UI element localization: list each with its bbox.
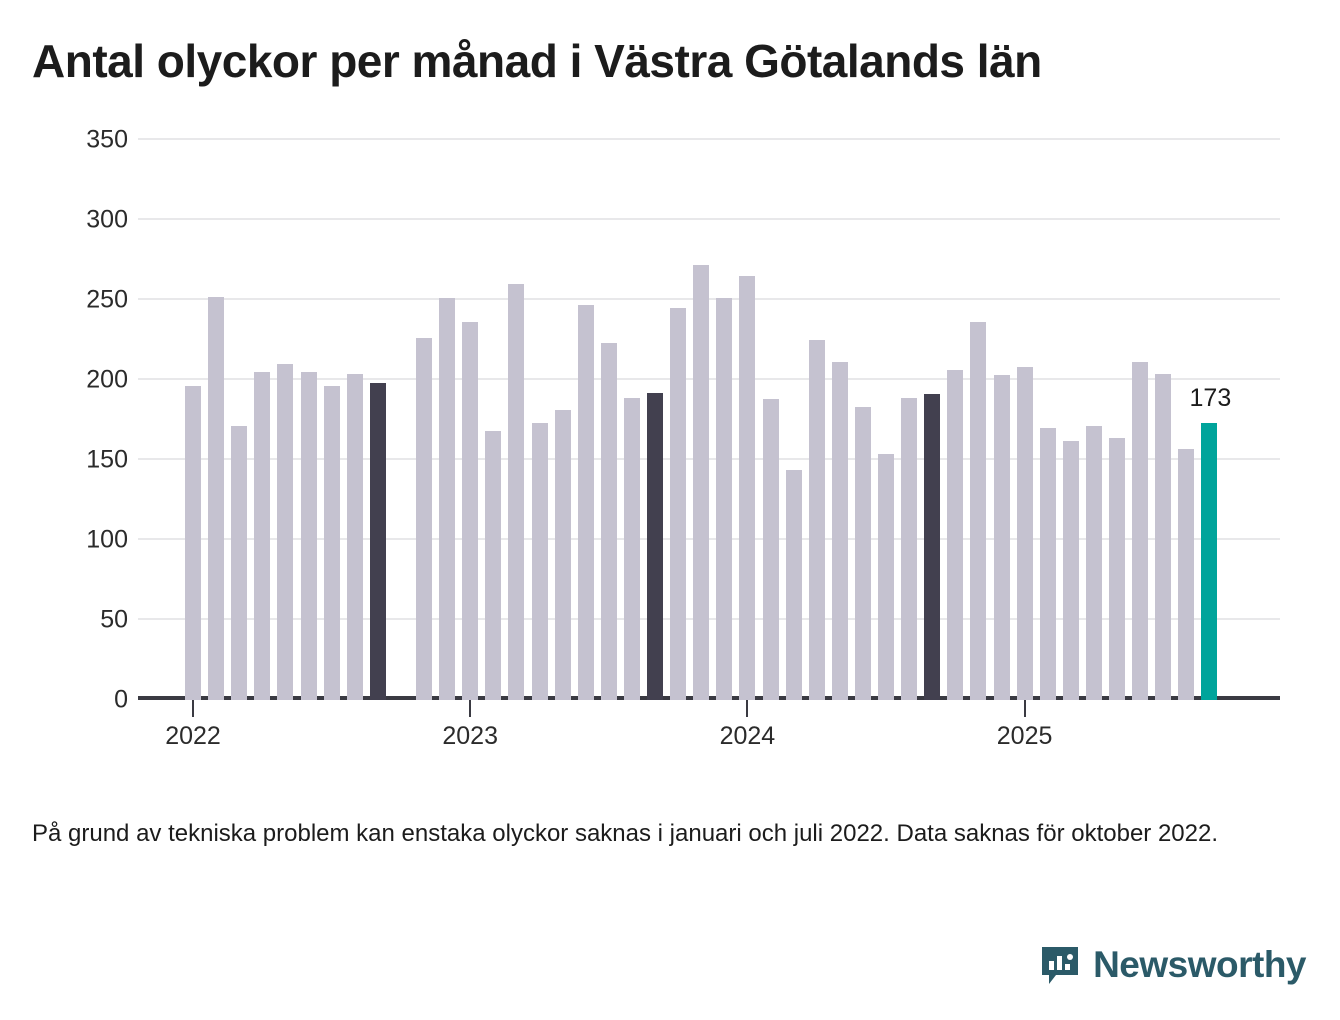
bar[interactable] xyxy=(416,338,432,700)
x-axis-tick-label: 2024 xyxy=(720,722,776,751)
bar[interactable] xyxy=(370,383,386,700)
y-axis-tick-label: 0 xyxy=(8,686,128,715)
y-axis-tick-label: 50 xyxy=(8,606,128,635)
bar[interactable] xyxy=(439,298,455,700)
bar[interactable] xyxy=(277,364,293,700)
y-axis-tick-label: 150 xyxy=(8,446,128,475)
bar[interactable] xyxy=(231,426,247,700)
page-title: Antal olyckor per månad i Västra Götalan… xyxy=(32,34,1042,88)
y-axis-tick-label: 200 xyxy=(8,366,128,395)
bar[interactable] xyxy=(924,394,940,700)
bar[interactable] xyxy=(670,308,686,700)
bar[interactable] xyxy=(647,393,663,700)
bar[interactable] xyxy=(578,305,594,700)
x-axis-tick xyxy=(192,700,194,717)
bar[interactable] xyxy=(555,410,571,700)
x-axis-tick xyxy=(469,700,471,717)
bar-chart-speech-bubble-icon xyxy=(1039,944,1081,986)
brand-name: Newsworthy xyxy=(1093,944,1306,986)
y-axis-tick-label: 300 xyxy=(8,206,128,235)
bar[interactable] xyxy=(208,297,224,700)
bar[interactable] xyxy=(485,431,501,700)
bar[interactable] xyxy=(1017,367,1033,700)
y-axis-tick-label: 250 xyxy=(8,286,128,315)
bar[interactable] xyxy=(832,362,848,700)
chart-footnote: På grund av tekniska problem kan enstaka… xyxy=(32,818,1247,850)
bar[interactable] xyxy=(1063,441,1079,700)
bar[interactable] xyxy=(1201,423,1217,700)
brand-logo: Newsworthy xyxy=(1039,944,1306,986)
y-axis-tick-label: 100 xyxy=(8,526,128,555)
bar[interactable] xyxy=(1155,374,1171,700)
chart-plot-area: 050100150200250300350 173 20222023202420… xyxy=(0,140,1340,760)
bar[interactable] xyxy=(763,399,779,700)
bar[interactable] xyxy=(254,372,270,700)
bar-value-label: 173 xyxy=(1190,384,1232,413)
bar[interactable] xyxy=(1132,362,1148,700)
bar[interactable] xyxy=(324,386,340,700)
bar[interactable] xyxy=(947,370,963,700)
bar[interactable] xyxy=(901,398,917,700)
bar[interactable] xyxy=(1086,426,1102,700)
bar[interactable] xyxy=(532,423,548,700)
bar[interactable] xyxy=(601,343,617,700)
x-axis-tick-label: 2022 xyxy=(165,722,221,751)
bar[interactable] xyxy=(185,386,201,700)
bar[interactable] xyxy=(301,372,317,700)
x-axis-tick-label: 2025 xyxy=(997,722,1053,751)
bar[interactable] xyxy=(1109,438,1125,700)
bar[interactable] xyxy=(462,322,478,700)
x-axis: 2022202320242025 xyxy=(138,700,1280,770)
bar[interactable] xyxy=(508,284,524,700)
bar[interactable] xyxy=(1178,449,1194,700)
y-axis: 050100150200250300350 xyxy=(0,140,128,700)
bar[interactable] xyxy=(855,407,871,700)
x-axis-tick-label: 2023 xyxy=(442,722,498,751)
bar[interactable] xyxy=(970,322,986,700)
bar[interactable] xyxy=(786,470,802,700)
bar[interactable] xyxy=(878,454,894,700)
bar[interactable] xyxy=(347,374,363,700)
bar[interactable] xyxy=(693,265,709,700)
x-axis-tick xyxy=(1024,700,1026,717)
bars-group: 173 xyxy=(138,140,1280,700)
bar[interactable] xyxy=(624,398,640,700)
bar[interactable] xyxy=(739,276,755,700)
y-axis-tick-label: 350 xyxy=(8,126,128,155)
bar[interactable] xyxy=(809,340,825,700)
bar[interactable] xyxy=(716,298,732,700)
bar[interactable] xyxy=(994,375,1010,700)
x-axis-tick xyxy=(746,700,748,717)
bar[interactable] xyxy=(1040,428,1056,700)
